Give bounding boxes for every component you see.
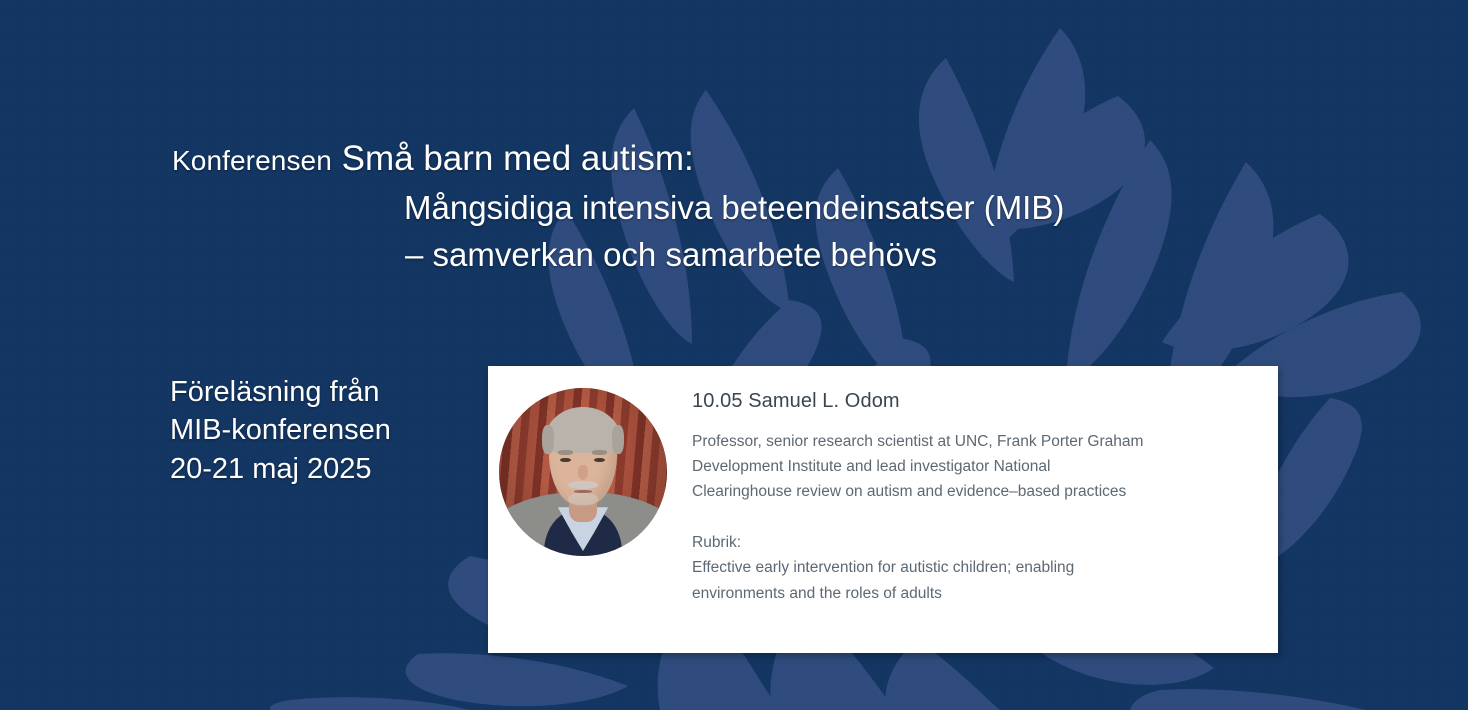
avatar	[499, 388, 667, 556]
avatar-container	[498, 388, 668, 556]
rubrik-line-1: Effective early intervention for autisti…	[692, 555, 1260, 580]
page-title: Konferensen Små barn med autism: Mångsid…	[0, 139, 1300, 274]
conference-slide: Konferensen Små barn med autism: Mångsid…	[0, 0, 1468, 710]
avatar-moustache	[568, 481, 598, 489]
bio-line-3: Clearinghouse review on autism and evide…	[692, 479, 1260, 504]
rubrik-label: Rubrik:	[692, 530, 1260, 555]
lecture-source-caption: Föreläsning från MIB-konferensen 20-21 m…	[170, 373, 391, 488]
speaker-details: 10.05 Samuel L. Odom Professor, senior r…	[668, 366, 1278, 606]
title-lead-word: Konferensen	[172, 145, 332, 176]
bio-line-2: Development Institute and lead investiga…	[692, 454, 1260, 479]
avatar-brow-left	[558, 450, 573, 454]
title-line-2: Mångsidiga intensiva beteendeinsatser (M…	[0, 189, 1300, 228]
title-main-phrase: Små barn med autism:	[342, 139, 694, 178]
speaker-name-and-time: 10.05 Samuel L. Odom	[692, 390, 1260, 413]
speaker-bio: Professor, senior research scientist at …	[692, 429, 1260, 504]
rubrik-line-2: environments and the roles of adults	[692, 581, 1260, 606]
title-line-3: – samverkan och samarbete behövs	[0, 236, 1300, 275]
avatar-chin-beard	[568, 493, 598, 505]
title-line-1: Konferensen Små barn med autism:	[0, 139, 1300, 180]
caption-line-2: MIB-konferensen	[170, 411, 391, 449]
caption-line-1: Föreläsning från	[170, 373, 391, 411]
talk-title-block: Rubrik: Effective early intervention for…	[692, 530, 1260, 605]
bio-line-1: Professor, senior research scientist at …	[692, 429, 1260, 454]
speaker-card: 10.05 Samuel L. Odom Professor, senior r…	[488, 366, 1278, 653]
avatar-brow-right	[592, 450, 607, 454]
caption-line-3: 20-21 maj 2025	[170, 450, 391, 488]
